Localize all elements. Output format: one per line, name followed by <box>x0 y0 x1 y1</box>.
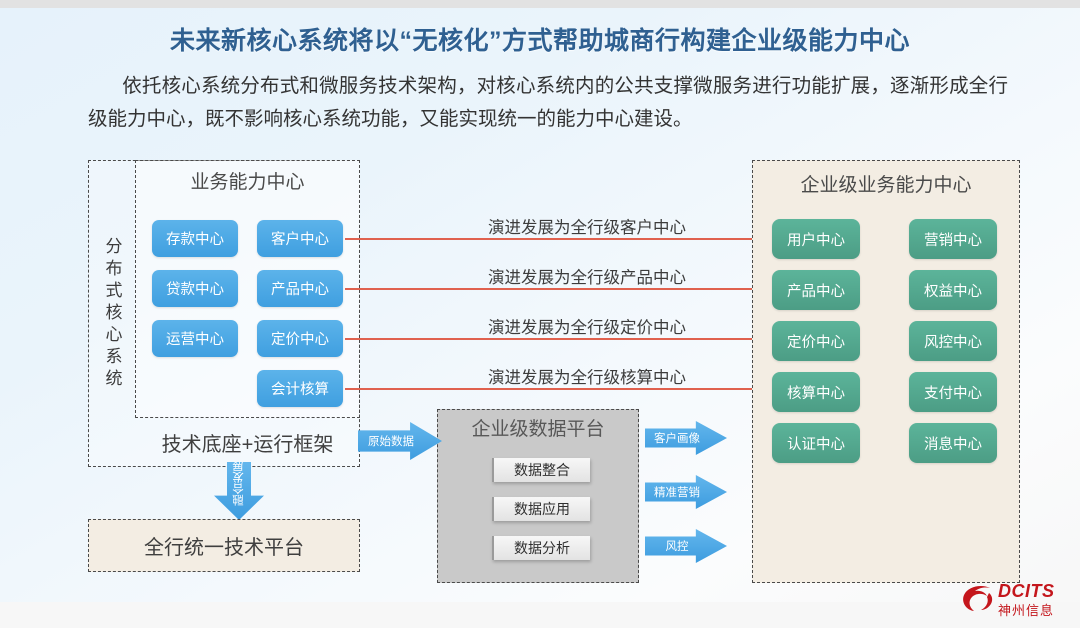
core-box-operation[interactable]: 运营中心 <box>152 320 238 357</box>
distributed-core-system-label: 分布式核心系统 <box>90 162 134 465</box>
core-box-customer[interactable]: 客户中心 <box>257 220 343 257</box>
output-arrow-risk-control: 风控 <box>645 529 727 563</box>
output-arrow-risk-control-label: 风控 <box>666 538 689 554</box>
ent-box-rights[interactable]: 权益中心 <box>909 270 997 310</box>
bottom-edge-strip <box>0 602 1080 628</box>
subtitle-text: 依托核心系统分布式和微服务技术架构，对核心系统内的公共支撑微服务进行功能扩展，逐… <box>88 75 1008 130</box>
core-box-deposit[interactable]: 存款中心 <box>152 220 238 257</box>
ent-box-accounting[interactable]: 核算中心 <box>772 372 860 412</box>
unified-tech-platform-label: 全行统一技术平台 <box>144 531 304 560</box>
output-arrow-customer-profile-label: 客户画像 <box>654 430 700 446</box>
page-subtitle: 依托核心系统分布式和微服务技术架构，对核心系统内的公共支撑微服务进行功能扩展，逐… <box>88 70 1008 136</box>
connector-line-customer <box>345 238 770 240</box>
output-arrow-customer-profile: 客户画像 <box>645 421 727 455</box>
connector-label-accounting: 演进发展为全行级核算中心 <box>422 364 752 388</box>
connector-label-product: 演进发展为全行级产品中心 <box>422 264 752 288</box>
data-item-analysis[interactable]: 数据分析 <box>492 536 590 560</box>
ent-box-product[interactable]: 产品中心 <box>772 270 860 310</box>
output-arrow-precision-marketing-label: 精准营销 <box>654 484 700 500</box>
merge-development-arrow-label: 融合发展 <box>231 460 247 506</box>
raw-data-arrow-label: 原始数据 <box>368 433 414 449</box>
unified-tech-platform: 全行统一技术平台 <box>88 519 360 572</box>
core-box-pricing[interactable]: 定价中心 <box>257 320 343 357</box>
slide-canvas: 未来新核心系统将以“无核化”方式帮助城商行构建企业级能力中心 依托核心系统分布式… <box>0 0 1080 628</box>
ent-box-pricing[interactable]: 定价中心 <box>772 321 860 361</box>
ent-box-message[interactable]: 消息中心 <box>909 423 997 463</box>
page-title: 未来新核心系统将以“无核化”方式帮助城商行构建企业级能力中心 <box>0 21 1080 57</box>
tech-base-label: 技术底座+运行框架 <box>135 418 360 467</box>
core-box-product[interactable]: 产品中心 <box>257 270 343 307</box>
output-arrow-precision-marketing: 精准营销 <box>645 475 727 509</box>
merge-development-arrow: 融合发展 <box>214 462 264 520</box>
business-capability-center-title: 业务能力中心 <box>135 167 360 194</box>
ent-box-riskcontrol[interactable]: 风控中心 <box>909 321 997 361</box>
data-item-application[interactable]: 数据应用 <box>492 497 590 521</box>
raw-data-arrow: 原始数据 <box>358 422 442 460</box>
connector-line-accounting <box>345 388 770 390</box>
ent-box-user[interactable]: 用户中心 <box>772 219 860 259</box>
company-logo: DCITS 神州信息 <box>960 581 1072 621</box>
logo-brand-text: DCITS <box>998 581 1055 602</box>
dcits-swirl-icon <box>960 584 994 614</box>
logo-cn-text: 神州信息 <box>998 600 1054 619</box>
data-platform-title: 企业级数据平台 <box>437 414 639 441</box>
ent-box-payment[interactable]: 支付中心 <box>909 372 997 412</box>
connector-line-pricing <box>345 338 770 340</box>
data-item-integration[interactable]: 数据整合 <box>492 458 590 482</box>
connector-line-product <box>345 288 770 290</box>
enterprise-capability-title: 企业级业务能力中心 <box>752 170 1020 197</box>
core-box-loan[interactable]: 贷款中心 <box>152 270 238 307</box>
connector-label-customer: 演进发展为全行级客户中心 <box>422 214 752 238</box>
connector-label-pricing: 演进发展为全行级定价中心 <box>422 314 752 338</box>
core-box-accounting[interactable]: 会计核算 <box>257 370 343 407</box>
ent-box-marketing[interactable]: 营销中心 <box>909 219 997 259</box>
top-edge-strip <box>0 0 1080 8</box>
core-label-text: 分布式核心系统 <box>104 237 121 391</box>
ent-box-auth[interactable]: 认证中心 <box>772 423 860 463</box>
